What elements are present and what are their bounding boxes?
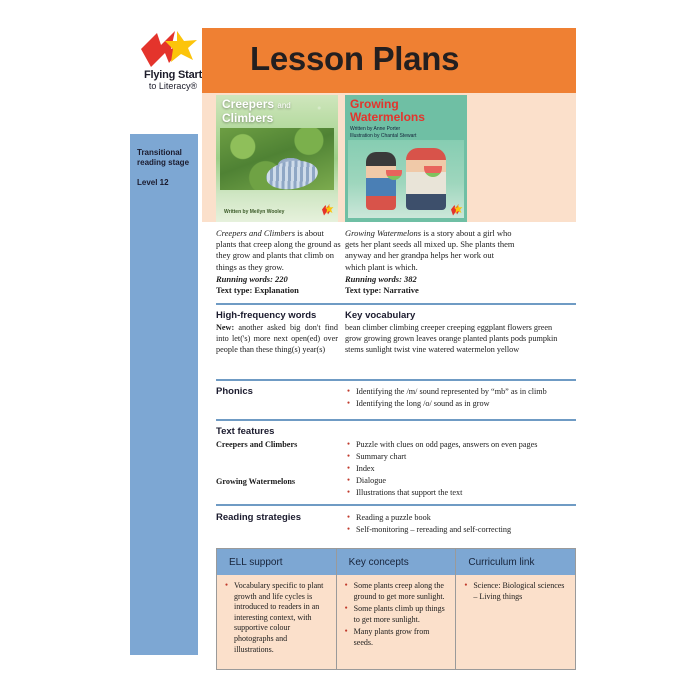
reading-strategy-item: Reading a puzzle book (356, 513, 431, 522)
cover-photo (220, 128, 334, 190)
book-cover-growing-watermelons: Growing Watermelons Written by Anne Port… (345, 95, 467, 222)
key-vocabulary-list: bean climber climbing creeper creeping e… (345, 322, 570, 355)
reading-stage-label: Transitional reading stage (137, 148, 197, 168)
cover-title-line-3: Climbers (222, 111, 273, 125)
cover-credits: Written by Anne Porter Illustration by C… (350, 126, 416, 139)
grandpa-figure-icon (406, 148, 446, 210)
section-divider (216, 379, 576, 381)
table-header-key-concepts: Key concepts (337, 549, 457, 575)
section-divider (216, 504, 576, 506)
section-heading-phonics: Phonics (216, 386, 253, 397)
cover-title: Growing Watermelons (350, 98, 463, 124)
text-feature-item: Index (356, 464, 375, 473)
section-divider (216, 303, 576, 305)
phonics-item-text: Identifying the /m/ sound represented by… (356, 387, 547, 396)
text-features-list-watermelons: Dialogue Illustrations that support the … (347, 475, 575, 499)
cell-text: Vocabulary specific to plant growth and … (234, 581, 323, 654)
text-feature-item: Dialogue (356, 476, 386, 485)
table-body-row: Vocabulary specific to plant growth and … (217, 575, 575, 669)
cover-author: Written by Meilyn Wooley (224, 209, 284, 215)
list-item: Identifying the /m/ sound represented by… (347, 386, 575, 397)
cell-text: Many plants grow from seeds. (354, 627, 430, 647)
level-label: Level 12 (137, 178, 197, 188)
cover-title-line-1: Creepers (222, 97, 274, 111)
section-heading-high-frequency-words: High-frequency words (216, 310, 316, 321)
running-words: Running words: 220 (216, 274, 342, 285)
text-type: Text type: Explanation (216, 285, 342, 296)
list-item: Index (347, 463, 575, 474)
publisher-badge-icon (321, 203, 334, 218)
text-features-list-creepers: Puzzle with clues on odd pages, answers … (347, 439, 575, 475)
page-header-banner: Lesson Plans (202, 28, 576, 93)
watermelon-slice-icon (386, 170, 402, 180)
cell-text: Science: Biological sciences – Living th… (473, 581, 564, 601)
reading-level-tab: Transitional reading stage Level 12 (130, 134, 198, 655)
section-divider (216, 419, 576, 421)
section-heading-key-vocabulary: Key vocabulary (345, 310, 415, 321)
text-type: Text type: Narrative (345, 285, 515, 296)
table-header-ell-support: ELL support (217, 549, 337, 575)
list-item: Vocabulary specific to plant growth and … (225, 581, 328, 655)
section-heading-text-features: Text features (216, 426, 274, 437)
table-header-row: ELL support Key concepts Curriculum link (217, 549, 575, 575)
reading-strategy-item: Self-monitoring – rereading and self-cor… (356, 525, 511, 534)
cover-credit-illustrator: Illustration by Chantal Stewart (350, 133, 416, 140)
publisher-badge-icon (450, 203, 463, 218)
high-frequency-words-list: New: another asked big don't find into l… (216, 322, 338, 355)
cell-text: Some plants climb up things to get more … (354, 604, 445, 624)
cover-title-line-2: Watermelons (350, 110, 425, 124)
cell-text: Some plants creep along the ground to ge… (354, 581, 445, 601)
page-title: Lesson Plans (250, 40, 459, 78)
running-words: Running words: 382 (345, 274, 515, 285)
summary-creepers-and-climbers: Creepers and Climbers is about plants th… (216, 228, 342, 296)
list-item: Puzzle with clues on odd pages, answers … (347, 439, 575, 450)
table-cell-curriculum-link: Science: Biological sciences – Living th… (456, 575, 575, 669)
text-feature-item: Summary chart (356, 452, 406, 461)
watermelon-illustration (264, 158, 319, 193)
text-features-book-label: Creepers and Climbers (216, 440, 297, 449)
list-item: Some plants creep along the ground to ge… (345, 581, 448, 602)
new-words-label: New: (216, 323, 234, 332)
table-cell-ell-support: Vocabulary specific to plant growth and … (217, 575, 337, 669)
list-item: Many plants grow from seeds. (345, 627, 448, 648)
cover-illustration (348, 140, 464, 218)
list-item: Illustrations that support the text (347, 487, 575, 498)
list-item: Identifying the long /o/ sound as in gro… (347, 398, 575, 409)
table-cell-key-concepts: Some plants creep along the ground to ge… (337, 575, 457, 669)
list-item: Self-monitoring – rereading and self-cor… (347, 524, 575, 535)
summary-book-title: Growing Watermelons (345, 228, 421, 238)
child-figure-icon (366, 152, 396, 210)
support-table: ELL support Key concepts Curriculum link… (216, 548, 576, 670)
summary-book-title: Creepers and Climbers (216, 228, 295, 238)
lesson-plan-page: Flying Start to Literacy® Transitional r… (0, 0, 700, 700)
cover-title-line-2: and (277, 101, 290, 110)
phonics-list: Identifying the /m/ sound represented by… (347, 386, 575, 410)
phonics-item-text: Identifying the long /o/ sound as in gro… (356, 399, 490, 408)
reading-strategies-list: Reading a puzzle book Self-monitoring – … (347, 512, 575, 536)
text-features-book-label: Growing Watermelons (216, 477, 295, 486)
text-feature-item: Illustrations that support the text (356, 488, 462, 497)
summary-growing-watermelons: Growing Watermelons is a story about a g… (345, 228, 515, 296)
section-heading-reading-strategies: Reading strategies (216, 512, 301, 523)
list-item: Dialogue (347, 475, 575, 486)
cover-title: Creepers and Climbers (222, 98, 332, 125)
high-frequency-words-text: another asked big don't find into let('s… (216, 323, 338, 354)
list-item: Reading a puzzle book (347, 512, 575, 523)
list-item: Summary chart (347, 451, 575, 462)
cover-title-line-1: Growing (350, 97, 399, 111)
list-item: Some plants climb up things to get more … (345, 604, 448, 625)
text-feature-item: Puzzle with clues on odd pages, answers … (356, 440, 537, 449)
star-burst-logo-icon (135, 29, 209, 69)
table-header-curriculum-link: Curriculum link (456, 549, 575, 575)
book-cover-creepers-and-climbers: Creepers and Climbers Written by Meilyn … (216, 95, 338, 222)
list-item: Science: Biological sciences – Living th… (464, 581, 567, 602)
